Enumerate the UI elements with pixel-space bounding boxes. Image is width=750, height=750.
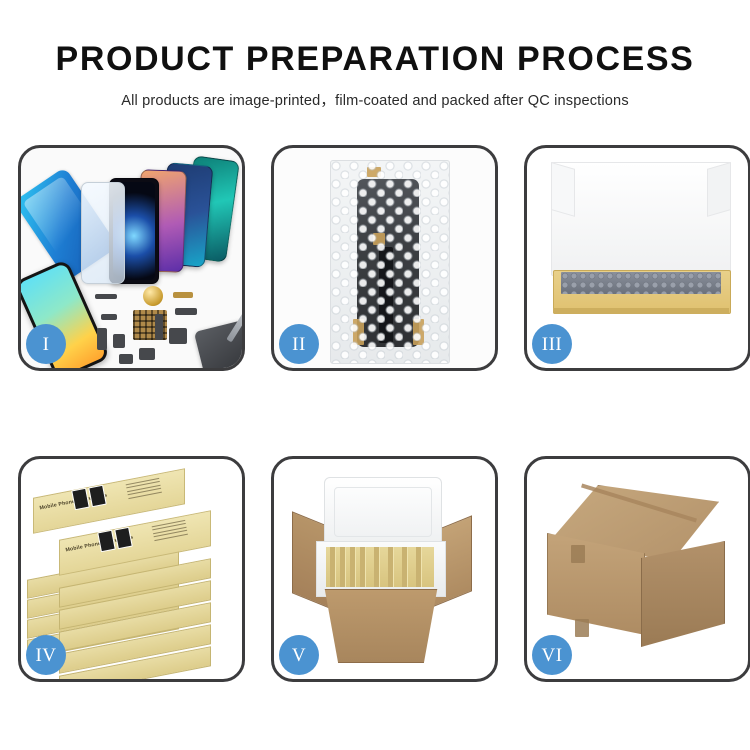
process-step-panel-1: I [18, 145, 245, 371]
phone-fan-group [77, 156, 242, 286]
part-graphic [101, 314, 117, 320]
part-graphic [97, 328, 107, 350]
box-lid-graphic [551, 162, 731, 276]
part-graphic [155, 314, 163, 340]
part-graphic [139, 348, 155, 360]
spare-parts-group [95, 288, 242, 368]
part-graphic [175, 308, 197, 315]
box-lid-flap-right [707, 162, 731, 217]
step-badge-6: VI [532, 635, 572, 675]
process-step-panel-3: III [524, 145, 750, 371]
step-badge-2: II [279, 324, 319, 364]
page-subtitle: All products are image-printed，film-coat… [0, 78, 750, 110]
tray-front-edge [553, 308, 729, 314]
foam-box-lid [324, 477, 442, 547]
part-graphic [169, 328, 187, 344]
step-badge-4: IV [26, 635, 66, 675]
bubble-bag-graphic [330, 160, 450, 364]
product-preparation-infographic: PRODUCT PREPARATION PROCESS All products… [0, 0, 750, 750]
step-badge-3: III [532, 324, 572, 364]
carton-front-panel [314, 589, 448, 663]
part-graphic [95, 294, 117, 299]
carton-flap-tab [571, 545, 585, 563]
process-step-grid: I II [18, 145, 732, 682]
part-graphic [113, 334, 125, 348]
carton-flap-tab [575, 619, 589, 637]
packed-kraft-boxes [326, 547, 434, 587]
step-badge-5: V [279, 635, 319, 675]
part-graphic [173, 292, 193, 298]
bubble-texture [331, 161, 449, 363]
tempered-glass-graphic [81, 182, 125, 284]
page-title: PRODUCT PREPARATION PROCESS [0, 0, 750, 78]
step-badge-1: I [26, 324, 66, 364]
process-step-panel-6: VI [524, 456, 750, 682]
camera-module-graphic [143, 286, 163, 306]
carton-side-face [641, 541, 725, 647]
process-step-panel-4: Mobile Phone Spare Parts Mobile Phone Sp… [18, 456, 245, 682]
box-lid-flap-left [551, 162, 575, 217]
part-graphic [119, 354, 133, 364]
process-step-panel-2: II [271, 145, 498, 371]
process-step-panel-5: V [271, 456, 498, 682]
header: PRODUCT PREPARATION PROCESS All products… [0, 0, 750, 110]
bubble-wrap-fill-graphic [561, 272, 721, 294]
